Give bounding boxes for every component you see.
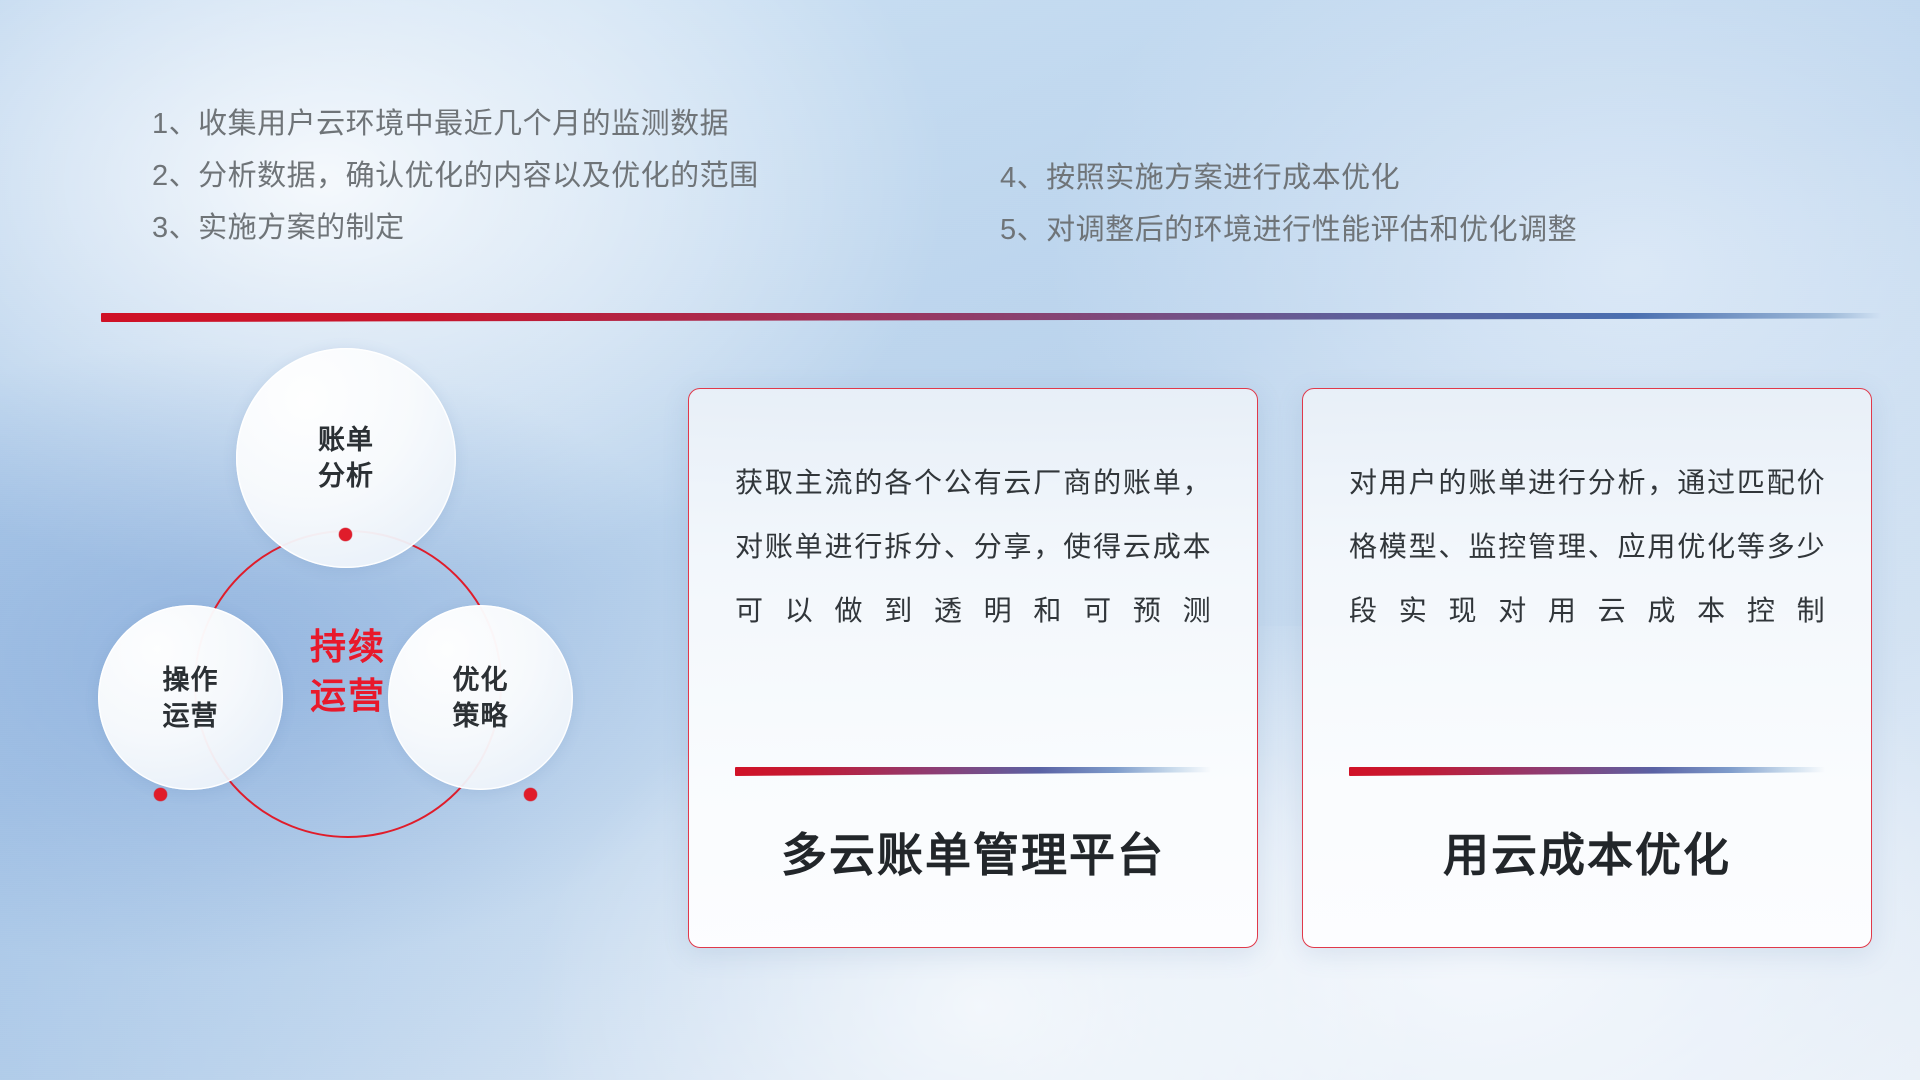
card-cloud-cost-optimization[interactable]: 对用户的账单进行分析，通过匹配价格模型、监控管理、应用优化等多少段实现对用云成本… (1302, 388, 1872, 948)
card-title: 多云账单管理平台 (689, 819, 1257, 885)
card-divider (1349, 767, 1825, 776)
card-body: 对用户的账单进行分析，通过匹配价格模型、监控管理、应用优化等多少段实现对用云成本… (1303, 389, 1871, 643)
card-divider (735, 767, 1211, 776)
card-multi-cloud-billing-platform[interactable]: 获取主流的各个公有云厂商的账单，对账单进行拆分、分享，使得云成本可以做到透明和可… (688, 388, 1258, 948)
card-title: 用云成本优化 (1303, 819, 1871, 885)
card-description: 对用户的账单进行分析，通过匹配价格模型、监控管理、应用优化等多少段实现对用云成本… (1349, 451, 1825, 643)
card-body: 获取主流的各个公有云厂商的账单，对账单进行拆分、分享，使得云成本可以做到透明和可… (689, 389, 1257, 643)
cards-section: 获取主流的各个公有云厂商的账单，对账单进行拆分、分享，使得云成本可以做到透明和可… (0, 0, 1920, 1080)
card-description: 获取主流的各个公有云厂商的账单，对账单进行拆分、分享，使得云成本可以做到透明和可… (735, 451, 1211, 643)
